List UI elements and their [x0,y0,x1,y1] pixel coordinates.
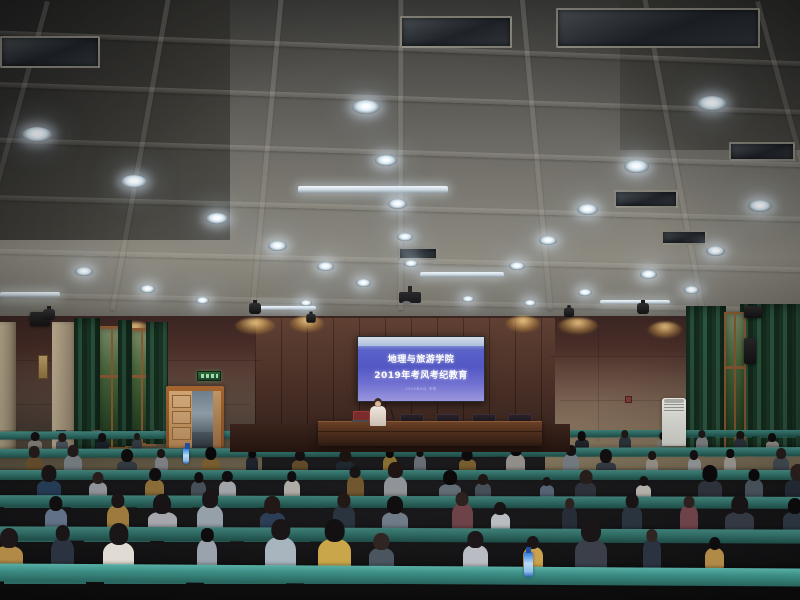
person-head [92,472,103,484]
ceiling-downlight [375,155,397,166]
person-head [264,496,280,514]
person-torso [680,505,698,530]
person-torso [265,537,296,568]
wall-wash-light [235,318,275,334]
stage-spotlight [563,305,575,319]
audience-person [680,490,698,530]
person-head [111,493,124,508]
person-head [49,496,62,511]
ceiling-strip-light [0,292,60,297]
ceiling-downlight [697,96,727,111]
audience-person [452,487,473,530]
water-bottle[interactable] [183,448,189,464]
person-head [350,466,361,478]
person-torso [575,539,607,568]
person-torso [745,479,763,498]
person-torso [622,505,642,530]
person-head [581,520,601,542]
person-head [55,525,70,541]
audience-person [643,520,661,568]
person-head [29,446,40,458]
person-head [109,523,128,545]
person-head [222,471,232,483]
person-head [388,462,402,478]
person-head [456,492,469,506]
stage-spotlight [42,306,56,322]
audience-person [491,503,510,530]
audience-person [382,501,408,530]
person-head [690,450,698,459]
audience-person [698,468,723,498]
person-head [478,474,488,485]
wall-wash-light [506,316,540,332]
stage-spotlight [305,312,316,325]
audience-person [724,446,736,472]
wall-wash-light [558,318,598,334]
audience-person [64,445,82,472]
person-head [639,476,648,487]
person-head [579,470,592,484]
audience-person [783,501,800,530]
person-head [387,496,403,514]
ceiling-downlight [196,297,209,304]
slide-title-line1: 地理与旅游学院 [358,352,484,365]
wall-speaker [744,306,762,318]
green-curtain [146,322,168,444]
wall-plaque [38,355,48,379]
person-head [202,490,218,508]
person-head [709,537,721,550]
person-head [121,449,133,462]
person-head [626,494,639,508]
ceiling-downlight [317,262,334,271]
person-head [157,449,165,458]
ceiling [0,0,800,330]
air-vent-grille [614,190,678,208]
exit-sign [197,371,221,381]
ceiling-strip-light [256,306,316,310]
air-vent-grille [729,142,795,161]
audience-person [284,469,299,498]
ceiling-strip-light [600,300,670,304]
ceiling-downlight [75,267,93,276]
person-head [324,519,345,542]
person-head [683,496,694,508]
person-head [768,433,776,442]
audience-person [646,450,658,472]
podium-table [318,421,542,446]
person-head [374,533,389,550]
stage-spotlight [248,300,262,316]
person-head [0,528,18,548]
person-torso [725,512,753,530]
door-leaf-open[interactable] [213,391,221,448]
audience-person [318,521,351,568]
ceiling-downlight [397,233,413,241]
air-vent-grille [661,230,707,245]
ceiling-downlight [404,260,418,267]
person-head [776,448,786,459]
audience-person [384,462,407,498]
ceiling-downlight [140,285,155,293]
person-head [201,528,213,542]
audience-person [103,526,134,568]
person-head [542,477,551,487]
audience-person [622,489,642,530]
audience-person [148,502,177,530]
audience-person [705,535,724,568]
person-head [205,447,216,460]
air-vent-grille [556,8,760,48]
ceiling-downlight [748,200,772,212]
person-torso [783,512,800,530]
doorway-corridor [192,391,214,448]
person-torso [785,479,800,498]
audience-person [459,452,477,472]
person-head [748,469,759,481]
ceiling-strip-light [420,272,504,277]
person-torso [197,539,217,568]
person-head [702,465,717,482]
person-head [41,465,56,482]
air-vent-grille [400,16,512,48]
ceiling-downlight [509,262,525,270]
person-torso [698,480,723,498]
ceiling-downlight [578,289,592,296]
audience-person [725,501,753,530]
wall-seam [598,322,599,442]
air-vent-grille [398,247,438,260]
person-torso [452,503,473,530]
water-bottle[interactable] [524,552,533,577]
stage-spotlight [636,300,650,316]
presenter-standing [370,398,386,426]
audience-person [745,468,763,498]
person-head [443,470,457,485]
wall-wash-light [648,322,682,338]
laptop [352,411,369,422]
person-head [153,494,171,514]
person-head [577,431,586,441]
ceiling-strip-light [298,186,448,193]
ceiling-downlight [22,127,52,142]
ceiling-downlight [388,199,407,209]
ceiling-downlight [539,236,557,245]
person-torso [318,539,351,568]
audience-person [265,518,296,568]
ceiling-downlight [684,286,699,294]
air-vent-grille [0,36,100,68]
person-torso [643,538,661,568]
person-head [134,433,140,440]
ceiling-downlight [524,300,536,306]
audience-person [89,473,107,498]
green-curtain [118,320,132,446]
audience-person [463,532,488,568]
wall-outlet [625,396,632,403]
lecture-hall-photo: 地理与旅游学院 2019年考风考纪教育 2019年6月 学院 [0,0,800,600]
door-leaf-closed[interactable] [169,391,192,448]
person-head [271,519,290,541]
person-head [727,449,735,457]
person-head [337,493,350,508]
person-head [787,498,800,514]
person-head [646,529,657,542]
audience-person [145,467,164,498]
ceiling-downlight [121,175,147,188]
audience-person [475,474,491,498]
person-head [495,502,507,515]
ceiling-downlight [300,300,312,306]
person-torso [705,548,724,568]
audience-person [37,469,61,498]
slide-content: 地理与旅游学院 2019年考风考纪教育 2019年6月 学院 [358,337,484,401]
audience-seating [0,430,800,600]
person-head [194,472,203,483]
ceiling-downlight [356,279,371,287]
slide-header-band [358,337,484,346]
audience-person [202,449,220,472]
person-head [565,498,575,509]
audience-person [785,467,800,498]
person-head [149,468,161,481]
ceiling-downlight [206,213,228,224]
ceiling-downlight [462,296,474,302]
slide-title-line2: 2019年考风考纪教育 [358,368,484,381]
projector-lens-icon [402,301,411,305]
ceiling-downlight [640,270,657,279]
person-head [648,451,656,460]
person-head [600,449,612,463]
audience-person [575,521,607,568]
audience-person [51,519,74,568]
person-head [31,432,40,442]
person-head [99,433,107,442]
ceiling-downlight [577,204,598,215]
audience-person [540,477,554,498]
person-torso [463,545,488,568]
ceiling-beam-vertical [250,0,284,310]
person-head [67,445,78,457]
audience-person [132,432,142,450]
person-head [468,531,483,548]
ceiling-downlight [706,246,725,256]
ceiling-downlight [268,241,287,251]
floor-standing-air-conditioner [662,398,686,446]
projection-screen: 地理与旅游学院 2019年考风考纪教育 2019年6月 学院 [357,336,485,402]
ceiling-downlight [352,100,380,114]
person-head [731,495,749,515]
slide-subtitle: 2019年6月 学院 [358,387,484,392]
audience-person [197,521,217,569]
person-head [790,464,800,481]
person-torso [384,476,407,498]
wall-speaker [744,338,756,364]
ceiling-downlight [624,160,649,173]
audience-person [575,473,596,498]
double-door-open[interactable] [166,386,224,448]
audience-person [369,535,394,568]
